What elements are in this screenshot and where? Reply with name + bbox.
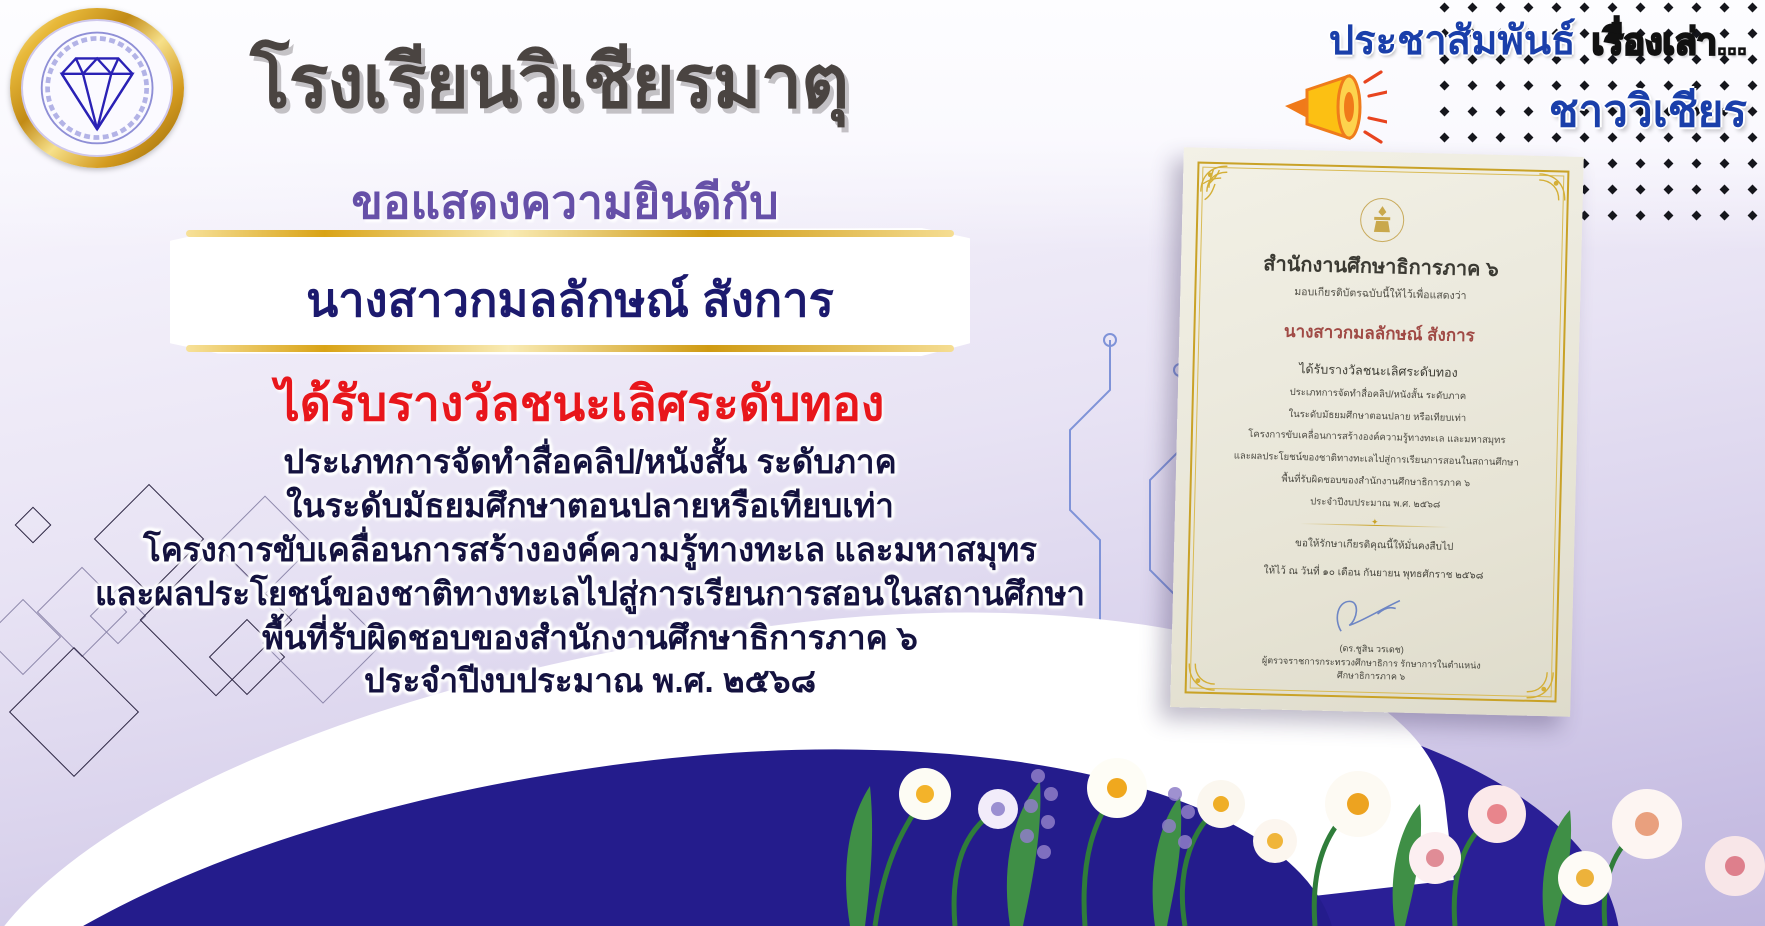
decorative-dot (1692, 185, 1702, 195)
decorative-dot (1636, 159, 1646, 169)
logo-inner-disc (21, 19, 173, 157)
page-title: โรงเรียนวิเชียรมาตุ (250, 22, 848, 140)
pr-label: ประชาสัมพันธ์ (1329, 19, 1576, 63)
awardee-ribbon: นางสาวกมลลักษณ์ สังการ (170, 228, 970, 356)
decorative-dot (1692, 211, 1702, 221)
certificate-content: สำนักงานศึกษาธิการภาค ๖ มอบเกียรติบัตรฉบ… (1189, 168, 1565, 689)
certificate-detail-line: และผลประโยชน์ของชาติทางทะเลไปสู่การเรียน… (1208, 449, 1544, 472)
detail-line: ในระดับมัธยมศึกษาตอนปลายหรือเทียบเท่า (0, 484, 1180, 528)
decorative-dot (1748, 3, 1758, 13)
decorative-dot (1664, 159, 1674, 169)
pr-audience-label: ชาววิเชียร (1107, 76, 1747, 146)
decorative-dot (1608, 159, 1618, 169)
ribbon-gold-line-top (186, 230, 954, 237)
decorative-dot (1636, 185, 1646, 195)
decorative-dot (1748, 133, 1758, 143)
decorative-dot (1748, 107, 1758, 117)
certificate-organization: สำนักงานศึกษาธิการภาค ๖ (1213, 246, 1550, 286)
certificate-recipient: นางสาวกมลลักษณ์ สังการ (1211, 316, 1548, 351)
certificate-detail-line: ประจำปีงบประมาณ พ.ศ. ๒๕๖๘ (1207, 492, 1543, 515)
decorative-dot (1664, 185, 1674, 195)
decorative-dot (1720, 185, 1730, 195)
decorative-dot (1636, 211, 1646, 221)
decorative-dot (1692, 159, 1702, 169)
decorative-dot (1608, 211, 1618, 221)
certificate-award: ได้รับรางวัลชนะเลิศระดับทอง (1210, 357, 1546, 385)
detail-line: โครงการขับเคลื่อนการสร้างองค์ความรู้ทางท… (0, 528, 1180, 572)
certificate-detail-line: พื้นที่รับผิดชอบของสำนักงานศึกษาธิการภาค… (1208, 471, 1544, 494)
pr-tale-label: เรื่องเล่า... (1592, 21, 1747, 62)
megaphone-icon (1277, 62, 1387, 148)
decorative-dot (1748, 81, 1758, 91)
certificate-detail-line: โครงการขับเคลื่อนการสร้างองค์ความรู้ทางท… (1209, 427, 1545, 450)
pr-label-row: ประชาสัมพันธ์เรื่องเล่า... (1107, 8, 1747, 72)
awardee-name: นางสาวกมลลักษณ์ สังการ (170, 262, 970, 337)
decorative-dot (1608, 185, 1618, 195)
decorative-dot (1748, 55, 1758, 65)
certificate-divider (1300, 523, 1450, 528)
school-logo (10, 8, 184, 168)
award-title: ได้รับรางวัลชนะเลิศระดับทอง (0, 366, 1160, 442)
certificate-detail-line: ประเภทการจัดทำสื่อคลิป/หนังสั้น ระดับภาค (1210, 384, 1546, 407)
congratulation-banner: โรงเรียนวิเชียรมาตุ ประชาสัมพันธ์เรื่องเ… (0, 0, 1765, 926)
decorative-dot (1748, 159, 1758, 169)
pr-banner: ประชาสัมพันธ์เรื่องเล่า... ชาววิเชียร (1107, 8, 1747, 146)
ribbon-gold-line-bottom (186, 345, 954, 352)
decorative-dot (1748, 211, 1758, 221)
ministry-emblem-icon (1360, 198, 1405, 243)
decorative-dot (1720, 211, 1730, 221)
decorative-dot (1748, 29, 1758, 39)
certificate-detail-line: ในระดับมัธยมศึกษาตอนปลาย หรือเทียบเท่า (1209, 406, 1545, 429)
decorative-dot (1664, 211, 1674, 221)
decorative-dot (1748, 185, 1758, 195)
certificate-wish: ขอให้รักษาเกียรติคุณนี้ให้มั่นคงสืบไป (1206, 534, 1542, 558)
diamond-icon (32, 29, 162, 147)
floral-decoration (755, 626, 1765, 926)
detail-line: และผลประโยชน์ของชาติทางทะเลไปสู่การเรียน… (0, 572, 1180, 616)
decorative-dot (1720, 159, 1730, 169)
detail-line: ประเภทการจัดทำสื่อคลิป/หนังสั้น ระดับภาค (0, 440, 1180, 484)
